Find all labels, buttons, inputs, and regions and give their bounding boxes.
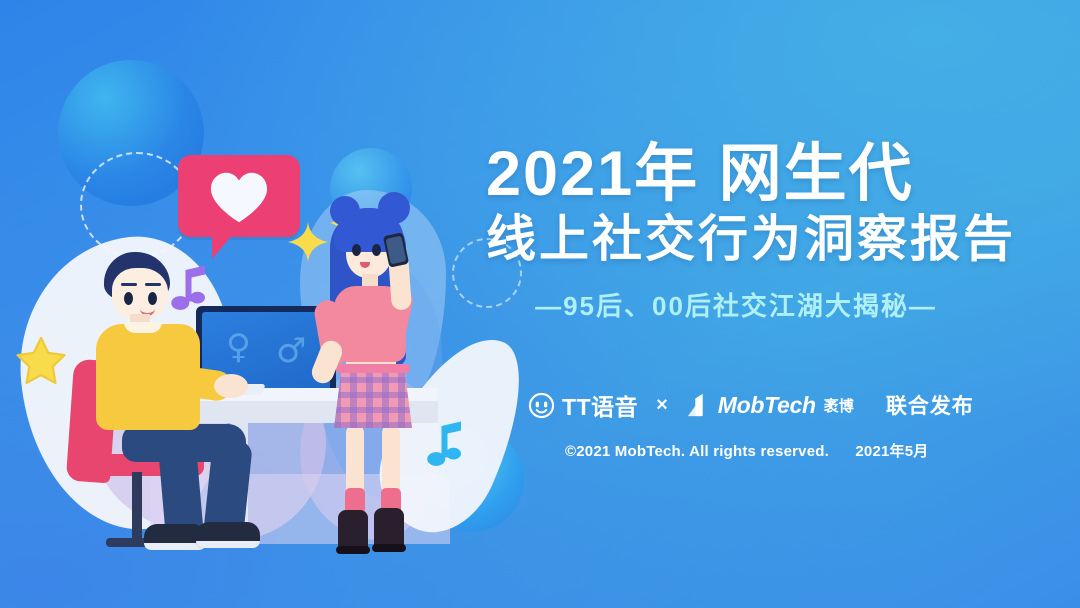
girl-boot-sole-right [372, 544, 406, 552]
heart-speech-bubble [178, 155, 300, 237]
boy-eye-right [148, 292, 157, 305]
girl-skirt-waistband [336, 364, 410, 373]
publish-date: 2021年5月 [855, 443, 928, 460]
boy-eye-left [124, 292, 133, 305]
poster-title-line-2: 线上社交行为洞察报告 [486, 210, 1026, 268]
yellow-star-icon [14, 334, 68, 388]
girl-eye-left [352, 244, 361, 256]
mobtech-name-cn: 袤博 [824, 395, 854, 416]
boy-collar [124, 322, 162, 333]
poster-tagline: —95后、00后社交江湖大揭秘— [486, 286, 986, 323]
smartphone-screen [385, 236, 406, 265]
girl-boot-sole-left [336, 546, 370, 554]
mobtech-logo: MobTech 袤博 [686, 392, 854, 419]
female-symbol-icon: ♀ [226, 330, 251, 364]
chair-pole [132, 472, 142, 544]
mobtech-mountain-mark-icon [686, 393, 712, 417]
boy-eyebrow-left [121, 283, 137, 286]
mobtech-name: MobTech [718, 392, 816, 419]
brand-cross-separator: × [656, 394, 668, 417]
boy-hand [214, 374, 248, 398]
smiley-face-circle-icon [528, 392, 555, 419]
boy-sneaker-sole-front [196, 541, 260, 548]
copyright-text: ©2021 MobTech. All rights reserved. [565, 443, 829, 460]
poster-canvas: ♀ ♂ [0, 0, 1080, 608]
tt-voice-name: TT语音 [562, 388, 638, 422]
title-block: 2021年 网生代 线上社交行为洞察报告 —95后、00后社交江湖大揭秘— [486, 140, 1026, 323]
boy-eyebrow-right [145, 283, 161, 286]
girl-plaid-skirt [334, 366, 412, 428]
tt-voice-logo: TT语音 [528, 388, 638, 422]
white-heart-icon [208, 169, 270, 225]
joint-publish-label: 联合发布 [886, 390, 974, 420]
copyright-line: ©2021 MobTech. All rights reserved. 2021… [565, 440, 928, 461]
girl-eye-right [372, 244, 381, 256]
poster-title-line-1: 2021年 网生代 [486, 140, 1026, 208]
brand-row: TT语音 × MobTech 袤博 联合发布 [528, 388, 974, 422]
blue-music-note-icon [425, 418, 467, 470]
male-symbol-icon: ♂ [276, 334, 306, 368]
